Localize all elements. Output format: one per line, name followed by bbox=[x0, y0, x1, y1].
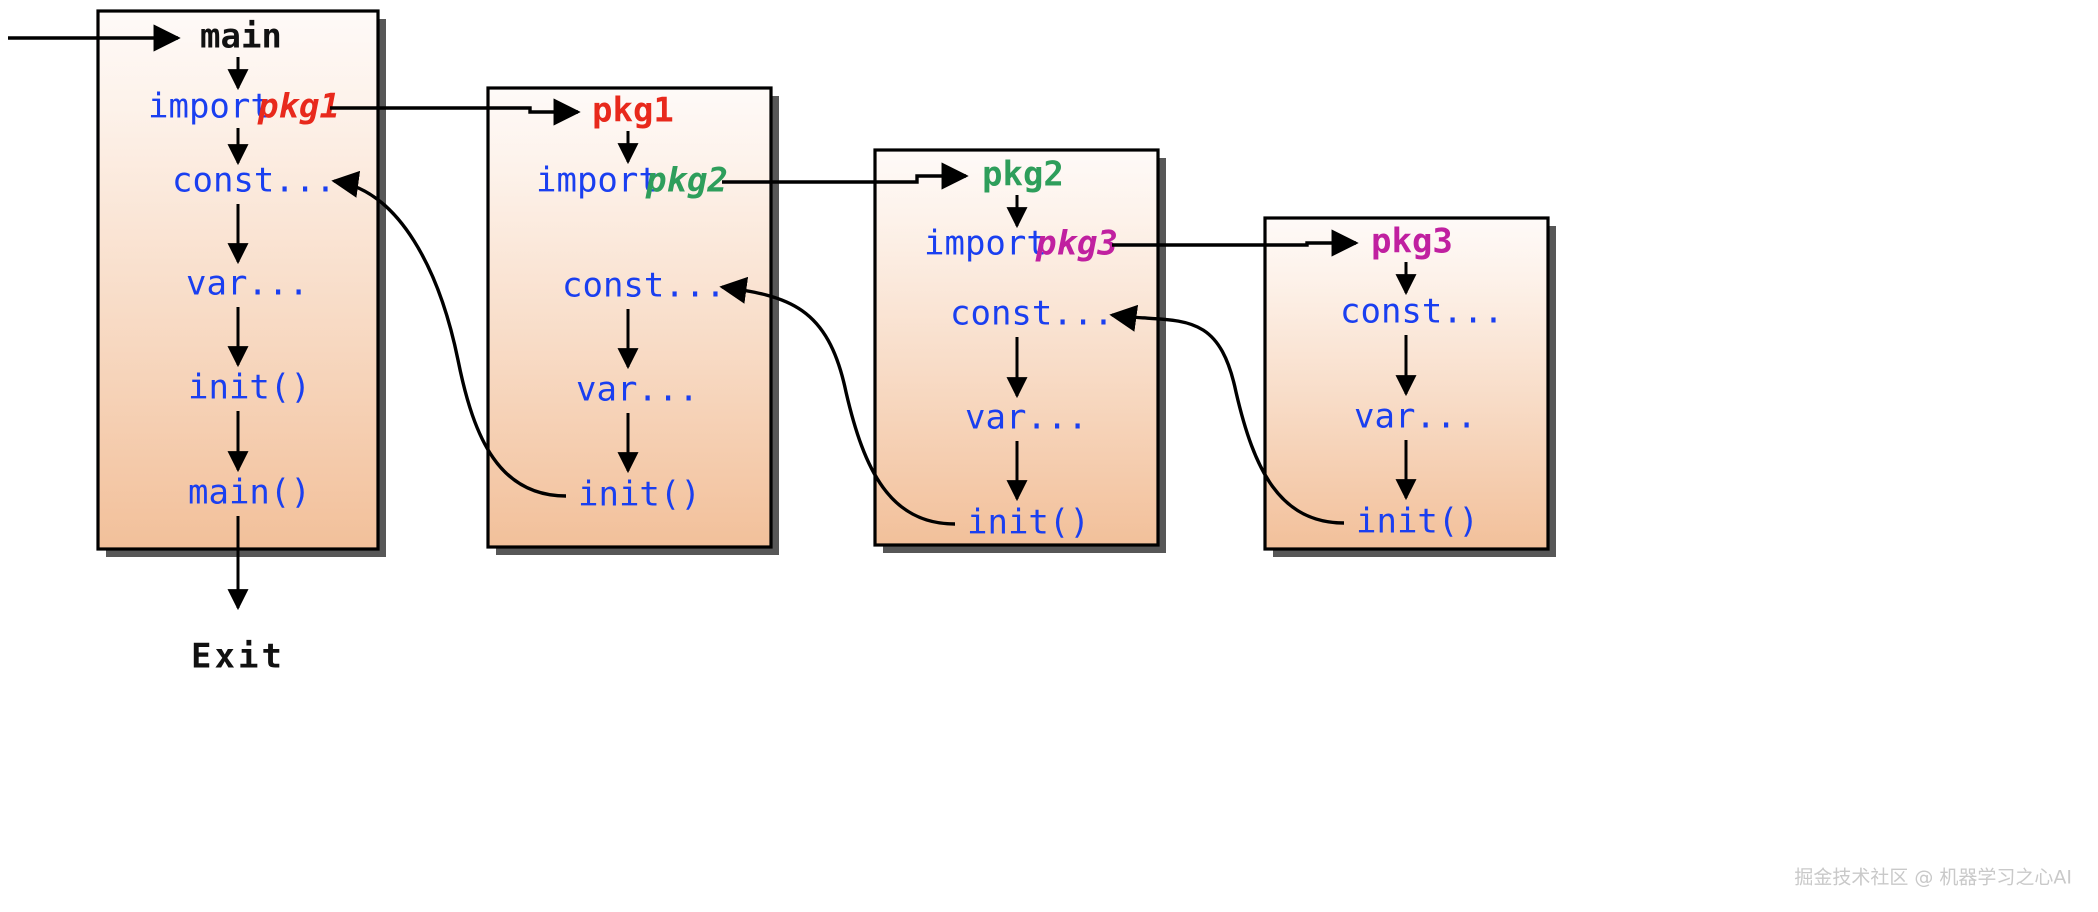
pkg1-init-label: init() bbox=[578, 475, 701, 515]
diagram-canvas: main import pkg1 const... var... init() … bbox=[0, 0, 2098, 912]
pkg2-init-label: init() bbox=[967, 503, 1090, 543]
pkg3-init-label: init() bbox=[1356, 502, 1479, 542]
pkg1-import-pkg2-label: pkg2 bbox=[645, 161, 728, 201]
pkg2-const-label: const... bbox=[950, 294, 1114, 334]
edge-pkg2-import-to-pkg3 bbox=[1112, 243, 1356, 245]
pkg3-var-label: var... bbox=[1354, 397, 1477, 437]
package-init-flow-diagram: main import pkg1 const... var... init() … bbox=[0, 0, 2098, 912]
pkg2-import-keyword: import bbox=[924, 224, 1047, 264]
main-import-pkg1-label: pkg1 bbox=[257, 87, 340, 127]
main-var-label: var... bbox=[186, 264, 309, 304]
main-init-label: init() bbox=[188, 368, 311, 408]
pkg3-header-label: pkg3 bbox=[1371, 222, 1453, 262]
watermark-label: 掘金技术社区 @ 机器学习之心AI bbox=[1794, 867, 2072, 889]
main-main-label: main() bbox=[188, 473, 311, 513]
pkg1-var-label: var... bbox=[576, 370, 699, 410]
pkg1-import-keyword: import bbox=[536, 161, 659, 201]
pkg2-import-pkg3-label: pkg3 bbox=[1035, 224, 1118, 264]
pkg1-header-label: pkg1 bbox=[592, 91, 674, 131]
exit-label: Exit bbox=[191, 637, 285, 677]
box-pkg2[interactable] bbox=[875, 150, 1166, 553]
pkg3-const-label: const... bbox=[1340, 292, 1504, 332]
pkg2-header-label: pkg2 bbox=[982, 155, 1064, 195]
pkg2-var-label: var... bbox=[965, 398, 1088, 438]
main-header-label: main bbox=[200, 17, 282, 57]
main-import-keyword: import bbox=[148, 87, 271, 127]
main-const-label: const... bbox=[172, 161, 336, 201]
pkg1-const-label: const... bbox=[562, 266, 726, 306]
